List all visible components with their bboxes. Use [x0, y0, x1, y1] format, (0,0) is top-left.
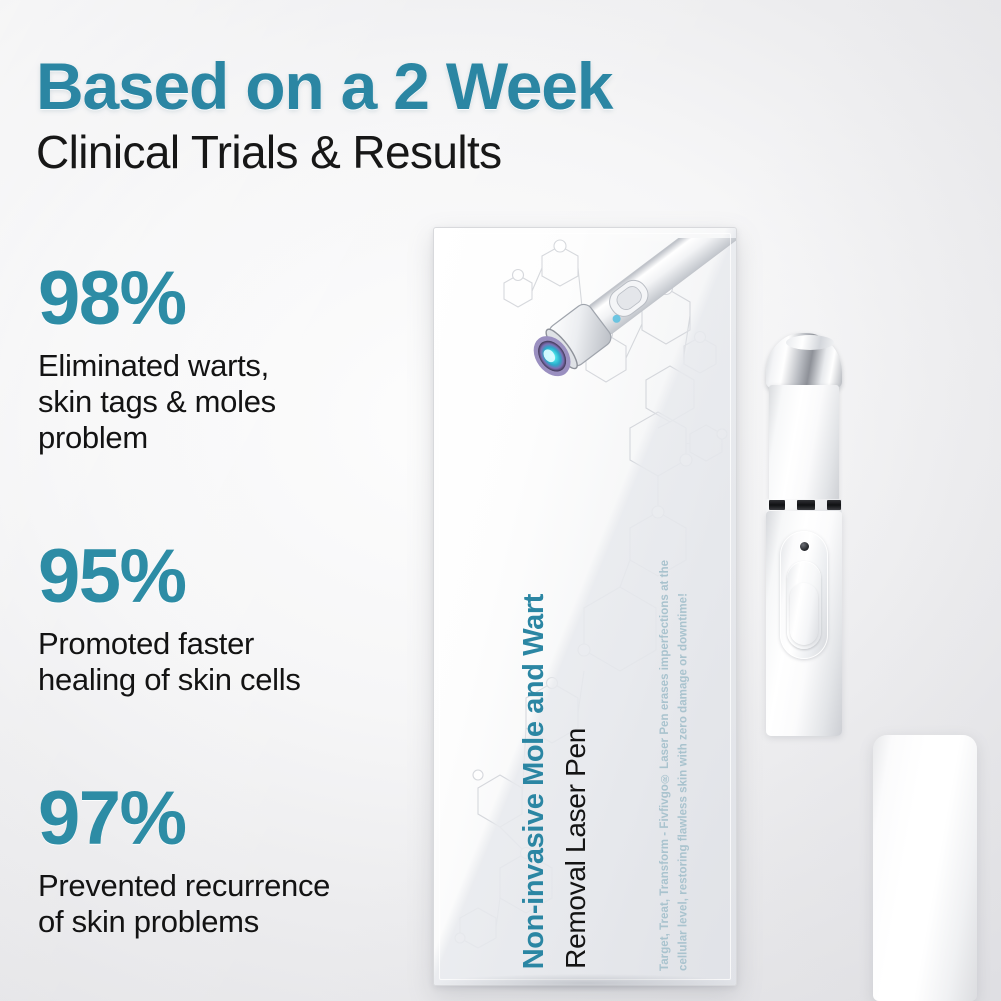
stat-percentage: 95% — [38, 540, 458, 614]
laser-pen-device — [752, 333, 856, 736]
headline-primary: Based on a 2 Week — [36, 52, 856, 121]
stat-block: 95% Promoted faster healing of skin cell… — [38, 540, 458, 698]
headline-block: Based on a 2 Week Clinical Trials & Resu… — [36, 52, 856, 178]
carton-pen-illustration — [486, 238, 736, 388]
pen-protective-cover — [873, 735, 977, 1001]
stat-percentage: 97% — [38, 782, 458, 856]
box-subtitle-vertical: Removal Laser Pen — [560, 728, 592, 969]
product-marketing-image: Based on a 2 Week Clinical Trials & Resu… — [0, 0, 1001, 1001]
pen-band-segment — [797, 500, 815, 510]
pen-band-segment — [827, 500, 841, 510]
stat-percentage: 98% — [38, 262, 458, 336]
pen-control-panel — [780, 531, 828, 659]
stat-description-line: Prevented recurrence — [38, 868, 458, 904]
pen-led-indicator — [800, 542, 809, 551]
stat-description-line: Eliminated warts, — [38, 348, 458, 384]
stat-description-line: of skin problems — [38, 904, 458, 940]
stat-description: Eliminated warts, skin tags & moles prob… — [38, 348, 458, 456]
stat-description-line: healing of skin cells — [38, 662, 458, 698]
pen-chrome-cap — [766, 333, 842, 389]
stat-description-line: Promoted faster — [38, 626, 458, 662]
stat-description: Prevented recurrence of skin problems — [38, 868, 458, 940]
pen-band-segment — [769, 500, 785, 510]
pen-power-switch[interactable] — [787, 561, 821, 649]
pen-lower-body — [766, 511, 842, 736]
pen-switch-slider[interactable] — [790, 583, 818, 645]
product-box: Non-invasive Mole and Wart Removal Laser… — [433, 227, 737, 986]
stat-description-line: skin tags & moles — [38, 384, 458, 420]
stat-block: 97% Prevented recurrence of skin problem… — [38, 782, 458, 940]
stat-description: Promoted faster healing of skin cells — [38, 626, 458, 698]
stat-description-line: problem — [38, 420, 458, 456]
pen-cap-highlight — [786, 335, 834, 350]
box-title-vertical: Non-invasive Mole and Wart — [518, 594, 551, 969]
stat-block: 98% Eliminated warts, skin tags & moles … — [38, 262, 458, 456]
box-fineprint: Target, Treat, Transform - Fivfivgo® Las… — [656, 557, 693, 971]
pen-upper-body — [769, 385, 839, 501]
headline-secondary: Clinical Trials & Results — [36, 127, 856, 179]
